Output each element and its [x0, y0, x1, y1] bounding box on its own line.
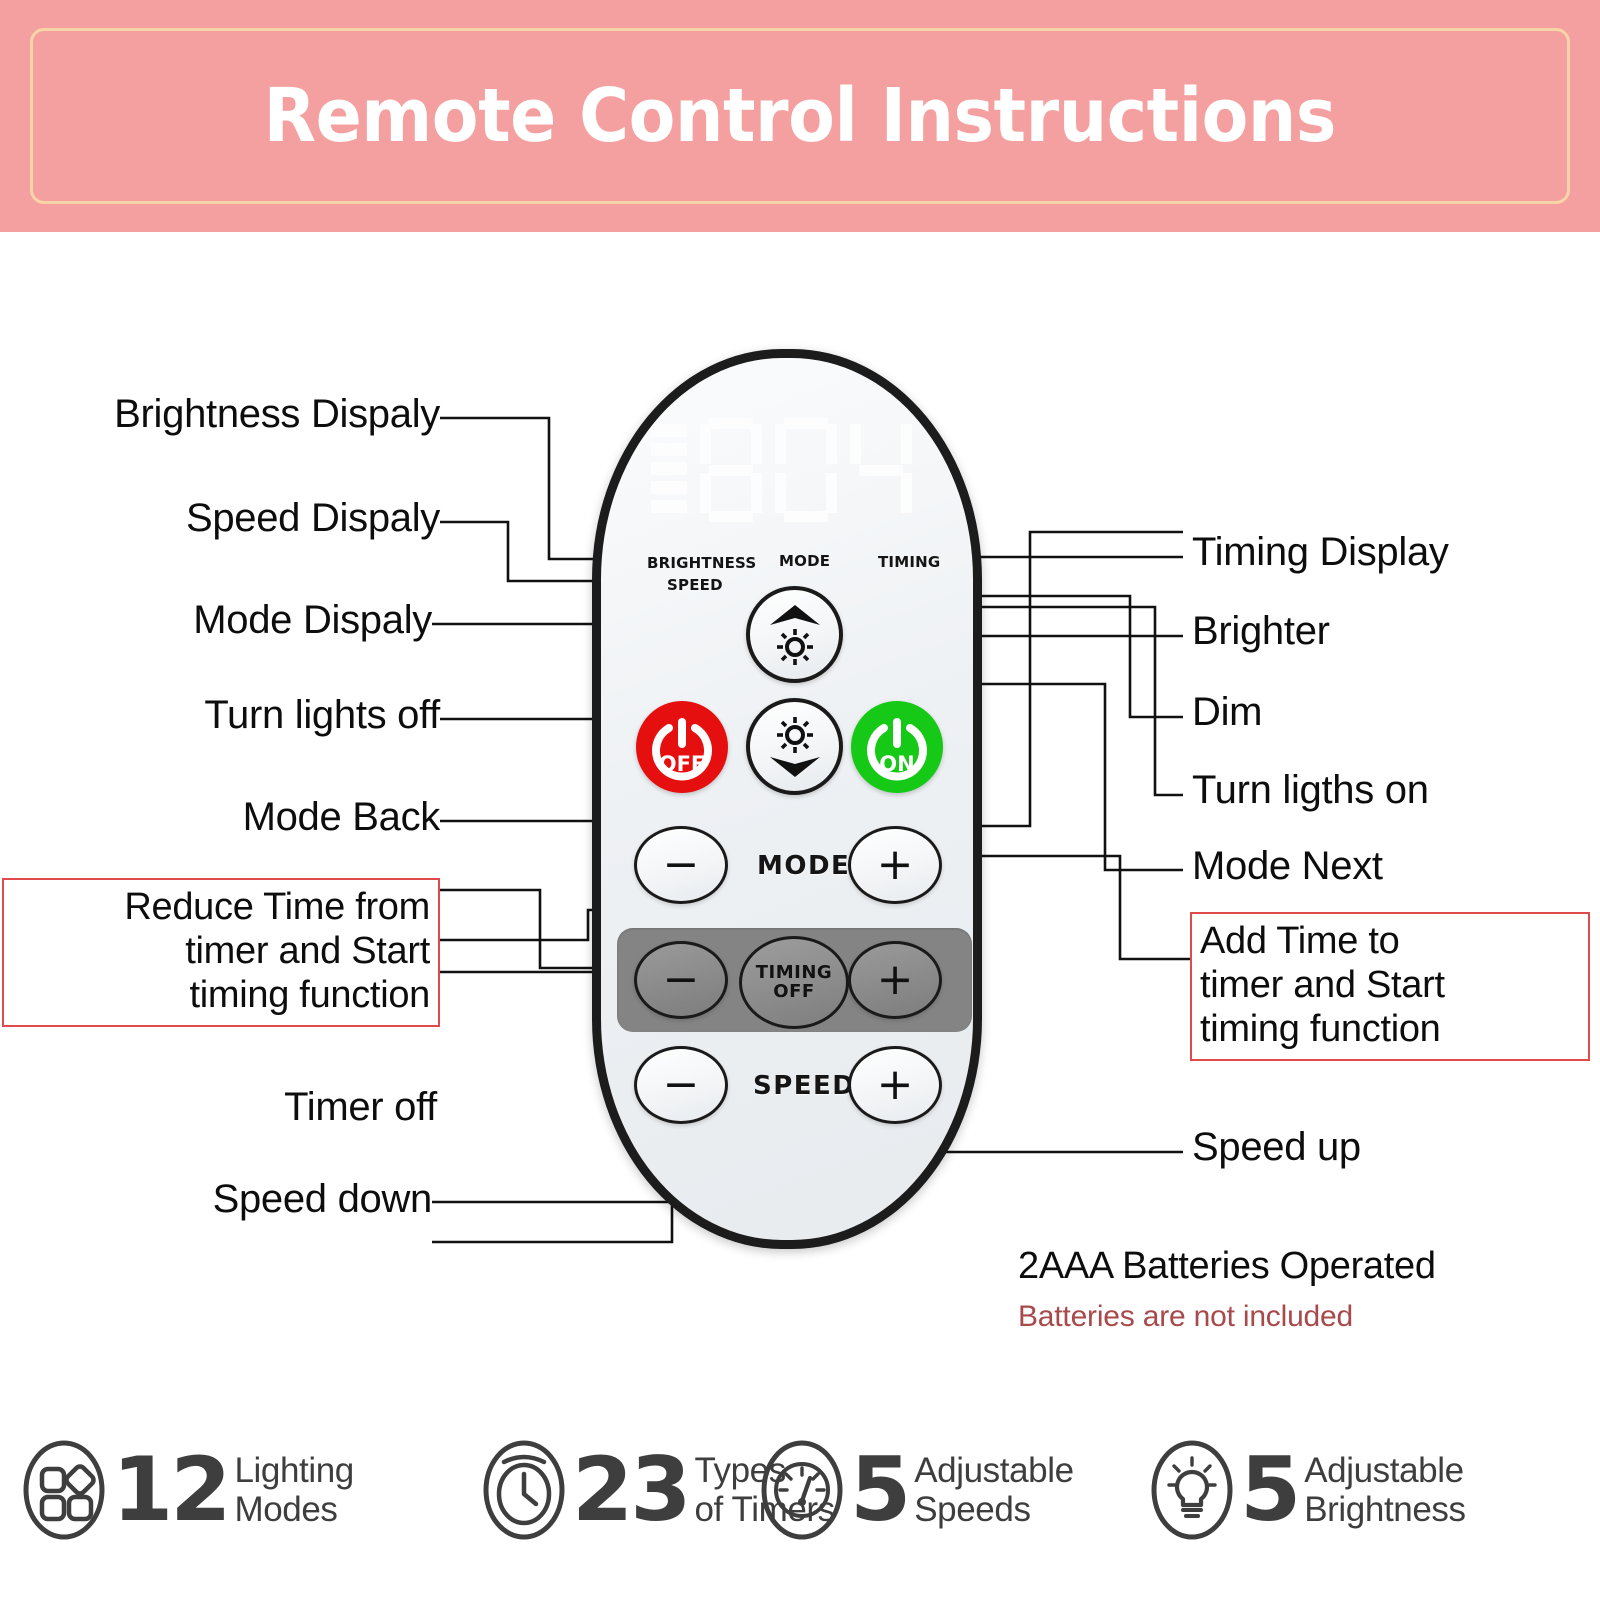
feature-number: 5 [1240, 1451, 1298, 1528]
feature-line2: Speeds [914, 1490, 1073, 1529]
remote-control-body: BRIGHTNESS SPEED MODE TIMING [592, 349, 982, 1249]
display-caption-speed: SPEED [667, 576, 723, 594]
callout-timer-off: Timer off [16, 1085, 437, 1130]
callout-brightness-display: Brightness Dispaly [16, 392, 440, 437]
feature-text: Lighting Modes [234, 1451, 353, 1529]
feature-speeds: 5 Adjustable Speeds [760, 1438, 1074, 1542]
digit-2 [775, 418, 837, 522]
brightness-up-icon [760, 599, 830, 671]
display-caption-timing: TIMING [878, 553, 940, 571]
plus-icon: + [877, 843, 914, 887]
mode-row-label: MODE [757, 851, 850, 881]
reduce-time-line1: Reduce Time from [12, 885, 430, 929]
timing-reduce-button[interactable]: − [634, 941, 728, 1019]
feature-number: 5 [850, 1451, 908, 1528]
timing-add-button[interactable]: + [848, 941, 942, 1019]
feature-line1: Adjustable [914, 1451, 1073, 1490]
feature-line2: Modes [234, 1490, 353, 1529]
led-display [651, 418, 912, 522]
callout-mode-back: Mode Back [16, 795, 440, 840]
callout-brighter: Brighter [1192, 609, 1330, 654]
display-caption-brightness: BRIGHTNESS [647, 554, 756, 572]
mode-back-button[interactable]: − [634, 826, 728, 904]
feature-text: Adjustable Brightness [1304, 1451, 1465, 1529]
power-on-icon: ON [858, 708, 936, 786]
timer-clock-icon [482, 1438, 566, 1542]
feature-number: 12 [112, 1451, 228, 1528]
digit-1 [700, 418, 762, 522]
callout-timing-display: Timing Display [1192, 530, 1449, 575]
speed-row-label: SPEED [753, 1071, 855, 1101]
plus-icon: + [877, 1063, 914, 1107]
feature-line1: Lighting [234, 1451, 353, 1490]
feature-line2: Brightness [1304, 1490, 1465, 1529]
minus-icon: − [663, 958, 700, 1002]
diagram-stage: BRIGHTNESS SPEED MODE TIMING [0, 232, 1600, 1600]
callout-speed-up: Speed up [1192, 1125, 1361, 1170]
feature-strip: 12 Lighting Modes 23 Types of Timers [0, 1415, 1600, 1565]
speed-down-button[interactable]: − [634, 1046, 728, 1124]
add-time-line1: Add Time to [1200, 919, 1580, 963]
feature-lighting-modes: 12 Lighting Modes [22, 1438, 354, 1542]
callout-mode-display: Mode Dispaly [16, 598, 432, 643]
feature-brightness: 5 Adjustable Brightness [1150, 1438, 1466, 1542]
callout-turn-lights-off: Turn lights off [16, 693, 440, 738]
callout-speed-display: Speed Dispaly [16, 496, 440, 541]
header-banner: Remote Control Instructions [0, 0, 1600, 232]
brighter-button[interactable] [746, 586, 843, 683]
battery-info: 2AAA Batteries Operated [1018, 1245, 1436, 1288]
power-off-button[interactable]: OFF [636, 701, 728, 793]
timing-off-button[interactable]: TIMING OFF [739, 936, 849, 1029]
plus-icon: + [877, 958, 914, 1002]
lightbulb-icon [1150, 1438, 1234, 1542]
reduce-time-line2: timer and Start [12, 929, 430, 973]
callout-speed-down: Speed down [16, 1177, 432, 1222]
speedometer-icon [760, 1438, 844, 1542]
bar-indicator-icon [651, 424, 687, 513]
digit-3 [850, 418, 912, 522]
feature-text: Adjustable Speeds [914, 1451, 1073, 1529]
mode-next-button[interactable]: + [848, 826, 942, 904]
lighting-modes-icon [22, 1438, 106, 1542]
speed-up-button[interactable]: + [848, 1046, 942, 1124]
callout-add-time-box: Add Time to timer and Start timing funct… [1190, 912, 1590, 1061]
callout-mode-next: Mode Next [1192, 844, 1383, 889]
timing-off-label-line1: TIMING [756, 964, 832, 983]
power-on-button[interactable]: ON [851, 701, 943, 793]
callout-reduce-time-box: Reduce Time from timer and Start timing … [2, 878, 440, 1027]
page-title: Remote Control Instructions [264, 73, 1336, 159]
minus-icon: − [663, 843, 700, 887]
feature-line1: Adjustable [1304, 1451, 1465, 1490]
battery-note: Batteries are not included [1018, 1300, 1353, 1334]
display-caption-mode: MODE [779, 552, 830, 570]
header-frame: Remote Control Instructions [30, 28, 1570, 204]
minus-icon: − [663, 1063, 700, 1107]
add-time-line2: timer and Start [1200, 963, 1580, 1007]
power-off-label: OFF [659, 752, 706, 776]
callout-dim: Dim [1192, 690, 1262, 735]
power-on-label: ON [879, 752, 914, 776]
reduce-time-line3: timing function [12, 973, 430, 1017]
dim-button[interactable] [746, 698, 843, 795]
timing-off-label-line2: OFF [773, 983, 814, 1002]
power-off-icon: OFF [643, 708, 721, 786]
callout-turn-lights-on: Turn ligths on [1192, 768, 1429, 813]
brightness-down-icon [760, 711, 830, 783]
feature-number: 23 [572, 1451, 688, 1528]
add-time-line3: timing function [1200, 1007, 1580, 1051]
